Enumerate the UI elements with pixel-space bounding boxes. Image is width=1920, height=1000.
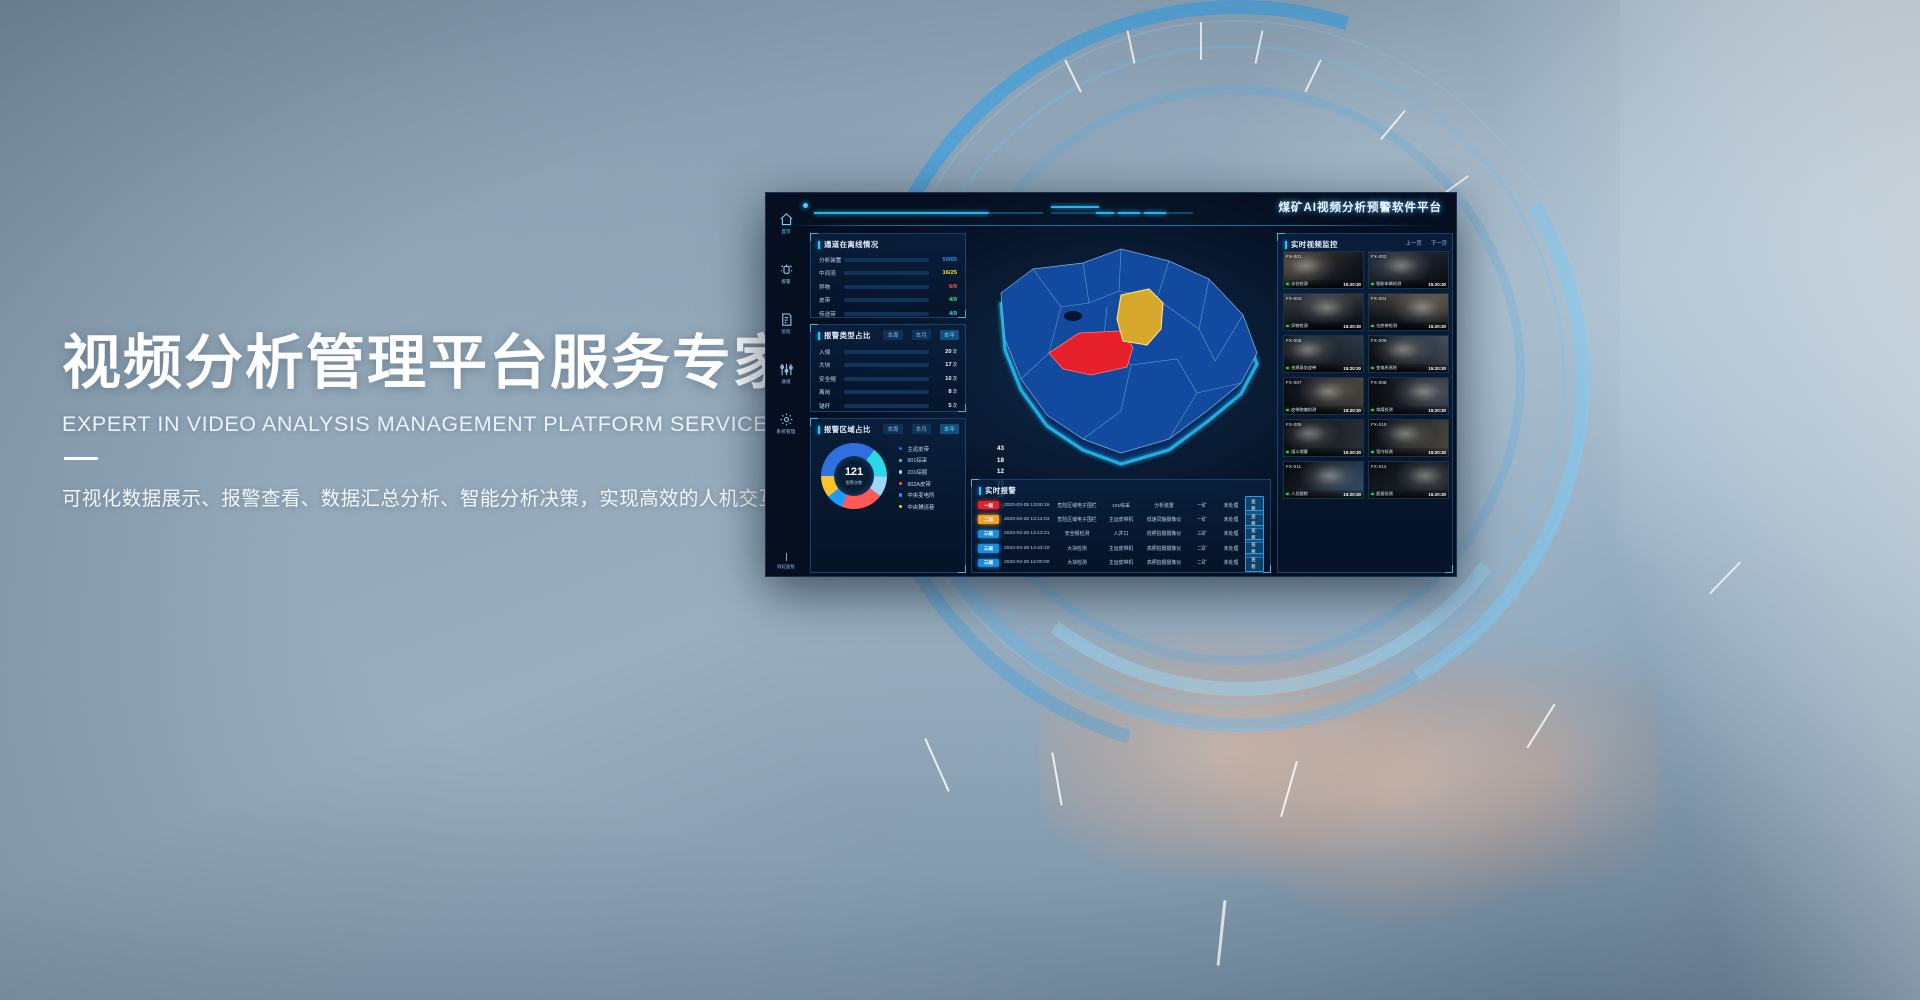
table-row: 一级2023-03-28 13:00:16危险区域电子围栏101综采分析装置一矿… (972, 498, 1270, 512)
alarm-device: 低照拍摄摄像仪 (1141, 530, 1187, 537)
alarm-type-label: 离岗 (819, 388, 844, 396)
channel-row: 分析装置50/65 (811, 253, 965, 267)
legend-color-dot (899, 447, 902, 450)
camera-name: 超速检测 (1376, 491, 1428, 497)
camera-id: FX-005 (1286, 338, 1302, 343)
camera-name: 违规乘坐皮带 (1291, 365, 1343, 371)
dashboard-header: 煤矿AI视频分析预警软件平台 (766, 193, 1457, 227)
camera-footer: 堆煤检测15:20:30 (1369, 406, 1448, 414)
alarm-time: 2023-03-28 13:00:16 (999, 503, 1053, 508)
channel-row: 中间流16/25 (811, 267, 965, 281)
sidebar-label-system: 系统管理 (776, 429, 795, 435)
channel-row-track (844, 258, 929, 262)
realtime-alarm-title: 实时报警 (972, 480, 1270, 496)
camera-timestamp: 15:20:30 (1428, 492, 1446, 497)
alarm-mine: 二矿 (1187, 559, 1217, 566)
alarm-status: 未处理 (1217, 516, 1245, 523)
sidebar-label-inspection: 巡检 (781, 329, 791, 335)
divider-rule (64, 457, 98, 460)
alarm-area-tabs: 本周本月本年 (883, 424, 959, 434)
camera-footer: 违规乘坐皮带15:20:30 (1284, 364, 1363, 372)
status-badge: 三级 (978, 530, 999, 538)
channel-row-label: 皮带 (819, 296, 844, 304)
camera-tile[interactable]: FX-011人员跟踪15:20:30 (1283, 461, 1364, 499)
status-badge: 二级 (978, 515, 999, 523)
channel-row-value: 6/9 (935, 284, 957, 290)
status-led-icon (1286, 283, 1289, 286)
sidebar-label-home: 首页 (781, 229, 791, 235)
alarm-type-value: 20次 (935, 349, 957, 355)
alarm-type-value: 5次 (935, 403, 957, 409)
camera-id: FX-002 (1371, 254, 1387, 259)
hero-description: 可视化数据展示、报警查看、数据汇总分析、智能分析决策，实现高效的人机交互 (62, 482, 882, 511)
camera-name: 仓底带检测 (1376, 323, 1428, 329)
camera-timestamp: 15:20:30 (1343, 492, 1361, 497)
camera-id: FX-012 (1371, 464, 1387, 469)
camera-tile[interactable]: FX-012超速检测15:20:30 (1368, 461, 1449, 499)
alarm-mine: 三矿 (1187, 530, 1217, 537)
camera-name: 智能车辆检测 (1376, 281, 1428, 287)
video-monitor-panel: 实时视频监控 上一页 下一页 FX-001水仓检测15:20:30FX-002智… (1277, 233, 1453, 573)
camera-timestamp: 15:20:30 (1428, 282, 1446, 287)
sidebar-item-inspection[interactable]: 巡检 (766, 305, 806, 341)
alarm-type-label: 安全帽 (819, 375, 844, 383)
camera-id: FX-008 (1371, 380, 1387, 385)
camera-name: 人员跟踪 (1291, 491, 1343, 497)
alarm-type-tab-本周[interactable]: 本周 (883, 330, 902, 340)
alarm-type-label: 大块 (819, 361, 844, 369)
dashboard-screen: 煤矿AI视频分析预警软件平台 首页 报警 (765, 192, 1457, 577)
legend-color-dot (899, 505, 902, 508)
alarm-type-rows: 入侵20次大块17次安全帽10次离岗8次锚杆5次 (811, 345, 965, 413)
camera-footer: 煤斗堵塞15:20:30 (1284, 448, 1363, 456)
alarm-time: 2023-03-28 14:43:10 (999, 546, 1053, 551)
alarm-area-donut-chart: 121 报警次数 (821, 443, 887, 509)
alarm-mine: 二矿 (1187, 545, 1217, 552)
camera-footer: 异物检测15:20:30 (1284, 322, 1363, 330)
page-title: 视频分析管理平台服务专家 (62, 330, 882, 396)
map-svg (971, 233, 1271, 473)
alarm-type: 安全帽检测 (1053, 530, 1101, 537)
table-row: 三级2023-03-28 15:00:00大块检测主运皮带机高照拍摄摄像仪二矿未… (972, 556, 1270, 570)
alarm-type-row: 离岗8次 (811, 386, 965, 400)
camera-tile[interactable]: FX-001水仓检测15:20:30 (1283, 251, 1364, 289)
channel-row-track (844, 271, 929, 275)
dashboard-title: 煤矿AI视频分析预警软件平台 (1279, 199, 1443, 215)
alarm-type-track (844, 390, 929, 394)
alarm-type-row: 入侵20次 (811, 345, 965, 359)
status-led-icon (1286, 451, 1289, 454)
map-hole (1064, 311, 1082, 321)
title-accent-bar (818, 332, 820, 340)
collapse-handle-icon (786, 553, 787, 561)
camera-timestamp: 15:20:30 (1343, 324, 1361, 329)
status-led-icon (1286, 409, 1289, 412)
sidebar-item-home[interactable]: 首页 (766, 205, 806, 241)
alarm-type-tabs: 本周本月本年 (883, 330, 959, 340)
inspection-icon (779, 312, 794, 327)
camera-id: FX-004 (1371, 296, 1387, 301)
camera-tile[interactable]: FX-005违规乘坐皮带15:20:30 (1283, 335, 1364, 373)
hero-text-block: 视频分析管理平台服务专家 EXPERT IN VIDEO ANALYSIS MA… (62, 330, 882, 511)
alarm-type-track (844, 350, 929, 354)
alarm-type: 危险区域电子围栏 (1053, 502, 1101, 509)
donut-center: 121 报警次数 (834, 456, 874, 496)
camera-name: 室内检测 (1376, 449, 1428, 455)
channel-icon (779, 362, 794, 377)
video-pagination: 上一页 下一页 (1406, 239, 1447, 247)
alarm-location: 主运皮带机 (1101, 545, 1141, 552)
camera-timestamp: 15:20:30 (1428, 324, 1446, 329)
camera-footer: 皮带跑偏检测15:20:30 (1284, 406, 1363, 414)
status-led-icon (1286, 367, 1289, 370)
camera-grid: FX-001水仓检测15:20:30FX-002智能车辆检测15:20:30FX… (1283, 251, 1449, 499)
status-led-icon (1371, 325, 1374, 328)
alarm-type-track (844, 363, 929, 367)
camera-timestamp: 15:20:30 (1343, 282, 1361, 287)
alarm-type-track (844, 404, 929, 408)
alarm-type-value: 8次 (935, 389, 957, 395)
settings-icon (779, 412, 794, 427)
status-led-icon (1286, 325, 1289, 328)
sidebar-item-alarm[interactable]: 报警 (766, 255, 806, 291)
title-accent-bar (818, 241, 820, 249)
channel-panel-title: 通道在离线情况 (811, 234, 965, 250)
table-row: 三级2023-03-28 14:13:21安全帽检测入井口低照拍摄摄像仪三矿未处… (972, 527, 1270, 541)
title-accent-bar (818, 426, 820, 434)
alarm-icon (779, 262, 794, 277)
donut-total-label: 报警次数 (846, 480, 863, 486)
channel-rows: 分析装置50/65中间流16/25异物6/9皮带4/9传送带4/9 (811, 253, 965, 321)
alarm-type-value: 17次 (935, 362, 957, 368)
home-icon (779, 212, 794, 227)
legend-color-dot (899, 459, 902, 462)
channel-row-value: 4/9 (935, 311, 957, 317)
camera-timestamp: 15:20:30 (1428, 450, 1446, 455)
camera-id: FX-001 (1286, 254, 1302, 259)
alarm-area-tab-本年[interactable]: 本年 (940, 424, 959, 434)
sidebar-label-alarm: 报警 (781, 279, 791, 285)
camera-footer: 水仓检测15:20:30 (1284, 280, 1363, 288)
status-led-icon (1371, 367, 1374, 370)
camera-timestamp: 15:20:30 (1343, 450, 1361, 455)
camera-name: 变电所巡检 (1376, 365, 1428, 371)
alarm-status: 未处理 (1217, 502, 1245, 509)
alarm-area-panel: 报警区域占比 本周本月本年 121 报警次数 主运皮带43901综采18201综… (810, 418, 966, 573)
camera-footer: 仓底带检测15:20:30 (1369, 322, 1448, 330)
camera-name: 煤斗堵塞 (1291, 449, 1343, 455)
header-underline (788, 225, 1436, 226)
legend-color-dot (899, 482, 902, 485)
alarm-device: 高照拍摄摄像仪 (1141, 559, 1187, 566)
sidebar-nav: 首页 报警 巡检 (766, 205, 806, 577)
status-led-icon (1371, 283, 1374, 286)
alarm-type: 危险区域电子围栏 (1053, 516, 1101, 523)
camera-timestamp: 15:20:30 (1428, 408, 1446, 413)
sidebar-label-channel: 通道 (781, 379, 791, 385)
channel-row-track (844, 285, 929, 289)
status-badge: 一级 (978, 501, 999, 509)
channel-row-value: 4/9 (935, 297, 957, 303)
view-button[interactable]: 查看 (1245, 553, 1264, 572)
camera-id: FX-007 (1286, 380, 1302, 385)
status-led-icon (1286, 493, 1289, 496)
channel-row-track (844, 298, 929, 302)
next-page-button[interactable]: 下一页 (1431, 239, 1447, 247)
alarm-device: 分析装置 (1141, 502, 1187, 509)
channel-row: 皮带4/9 (811, 294, 965, 308)
alarm-location: 主运皮带机 (1101, 559, 1141, 566)
alarm-action-cell: 查看 (1245, 553, 1264, 572)
camera-timestamp: 15:20:30 (1343, 408, 1361, 413)
table-row: 二级2023-03-28 13:14:03危险区域电子围栏主运皮带机低速同轴摄像… (972, 512, 1270, 526)
alarm-device: 低速同轴摄像仪 (1141, 516, 1187, 523)
camera-timestamp: 15:20:30 (1428, 366, 1446, 371)
camera-tile[interactable]: FX-006变电所巡检15:20:30 (1368, 335, 1449, 373)
alarm-type-track (844, 377, 929, 381)
channel-row-label: 中间流 (819, 269, 844, 277)
channel-row-label: 异物 (819, 283, 844, 291)
camera-name: 堆煤检测 (1376, 407, 1428, 413)
alarm-type: 大块检测 (1053, 545, 1101, 552)
channel-row-value: 50/65 (935, 257, 957, 263)
title-accent-bar (1285, 241, 1287, 249)
alarm-type-tab-本月[interactable]: 本月 (912, 330, 931, 340)
alarm-status: 未处理 (1217, 530, 1245, 537)
alarm-type-panel: 报警类型占比 本周本月本年 入侵20次大块17次安全帽10次离岗8次锚杆5次 (810, 324, 966, 412)
channel-row-value: 16/25 (935, 270, 957, 276)
alarm-area-tab-本周[interactable]: 本周 (883, 424, 902, 434)
camera-tile[interactable]: FX-008堆煤检测15:20:30 (1368, 377, 1449, 415)
alarm-area-tab-本月[interactable]: 本月 (912, 424, 931, 434)
channel-row-track (844, 312, 929, 316)
camera-id: FX-010 (1371, 422, 1387, 427)
camera-tile[interactable]: FX-007皮带跑偏检测15:20:30 (1283, 377, 1364, 415)
table-row: 三级2023-03-28 14:43:10大块检测主运皮带机高照拍摄摄像仪二矿未… (972, 541, 1270, 555)
camera-tile[interactable]: FX-003异物检测15:20:30 (1283, 293, 1364, 331)
alarm-type: 大块检测 (1053, 559, 1101, 566)
camera-footer: 智能车辆检测15:20:30 (1369, 280, 1448, 288)
collapse-panel-button[interactable]: 收起面板 (766, 553, 806, 570)
camera-name: 皮带跑偏检测 (1291, 407, 1343, 413)
alarm-device: 高照拍摄摄像仪 (1141, 545, 1187, 552)
alarm-status: 未处理 (1217, 545, 1245, 552)
camera-id: FX-009 (1286, 422, 1302, 427)
camera-name: 水仓检测 (1291, 281, 1343, 287)
alarm-type-row: 锚杆5次 (811, 399, 965, 413)
camera-tile[interactable]: FX-004仓底带检测15:20:30 (1368, 293, 1449, 331)
alarm-time: 2023-03-28 14:13:21 (999, 531, 1053, 536)
alarm-mine: 一矿 (1187, 502, 1217, 509)
channel-row-label: 传送带 (819, 310, 844, 318)
alarm-location: 101综采 (1101, 502, 1141, 509)
sidebar-item-channel[interactable]: 通道 (766, 355, 806, 391)
camera-tile[interactable]: FX-010室内检测15:20:30 (1368, 419, 1449, 457)
status-badge: 三级 (978, 559, 999, 567)
camera-id: FX-006 (1371, 338, 1387, 343)
donut-total-value: 121 (845, 467, 863, 478)
channel-row: 异物6/9 (811, 280, 965, 294)
channel-row: 传送带4/9 (811, 307, 965, 321)
alarm-type-row: 安全帽10次 (811, 372, 965, 386)
alarm-location: 主运皮带机 (1101, 516, 1141, 523)
alarm-type-tab-本年[interactable]: 本年 (940, 330, 959, 340)
channel-row-label: 分析装置 (819, 256, 844, 264)
hero-subtitle: EXPERT IN VIDEO ANALYSIS MANAGEMENT PLAT… (62, 412, 882, 437)
alarm-type-value: 10次 (935, 376, 957, 382)
alarm-time: 2023-03-28 15:00:00 (999, 560, 1053, 565)
alarm-type-label: 入侵 (819, 348, 844, 356)
camera-footer: 人员跟踪15:20:30 (1284, 490, 1363, 498)
camera-tile[interactable]: FX-009煤斗堵塞15:20:30 (1283, 419, 1364, 457)
alarm-time: 2023-03-28 13:14:03 (999, 517, 1053, 522)
donut-ring: 121 报警次数 (821, 443, 887, 509)
camera-tile[interactable]: FX-002智能车辆检测15:20:30 (1368, 251, 1449, 289)
alarm-mine: 一矿 (1187, 516, 1217, 523)
camera-id: FX-003 (1286, 296, 1302, 301)
status-badge: 三级 (978, 544, 999, 552)
camera-footer: 超速检测15:20:30 (1369, 490, 1448, 498)
alarm-type-row: 大块17次 (811, 359, 965, 373)
channel-status-panel: 通道在离线情况 分析装置50/65中间流16/25异物6/9皮带4/9传送带4/… (810, 233, 966, 318)
region-map[interactable] (971, 233, 1271, 473)
camera-timestamp: 15:20:30 (1343, 366, 1361, 371)
camera-id: FX-011 (1286, 464, 1301, 469)
status-led-icon (1371, 493, 1374, 496)
collapse-panel-label: 收起面板 (777, 564, 795, 570)
status-led-icon (1371, 451, 1374, 454)
status-led-icon (1371, 409, 1374, 412)
realtime-alarm-panel: 实时报警 一级2023-03-28 13:00:16危险区域电子围栏101综采分… (971, 479, 1271, 573)
camera-name: 异物检测 (1291, 323, 1343, 329)
realtime-alarm-rows: 一级2023-03-28 13:00:16危险区域电子围栏101综采分析装置一矿… (972, 498, 1270, 570)
legend-color-dot (899, 493, 902, 496)
title-accent-bar (979, 487, 981, 495)
camera-footer: 室内检测15:20:30 (1369, 448, 1448, 456)
sidebar-item-system[interactable]: 系统管理 (766, 405, 806, 441)
alarm-type-label: 锚杆 (819, 402, 844, 410)
legend-color-dot (899, 470, 902, 473)
alarm-status: 未处理 (1217, 559, 1245, 566)
camera-footer: 变电所巡检15:20:30 (1369, 364, 1448, 372)
alarm-location: 入井口 (1101, 530, 1141, 537)
prev-page-button[interactable]: 上一页 (1406, 239, 1422, 247)
